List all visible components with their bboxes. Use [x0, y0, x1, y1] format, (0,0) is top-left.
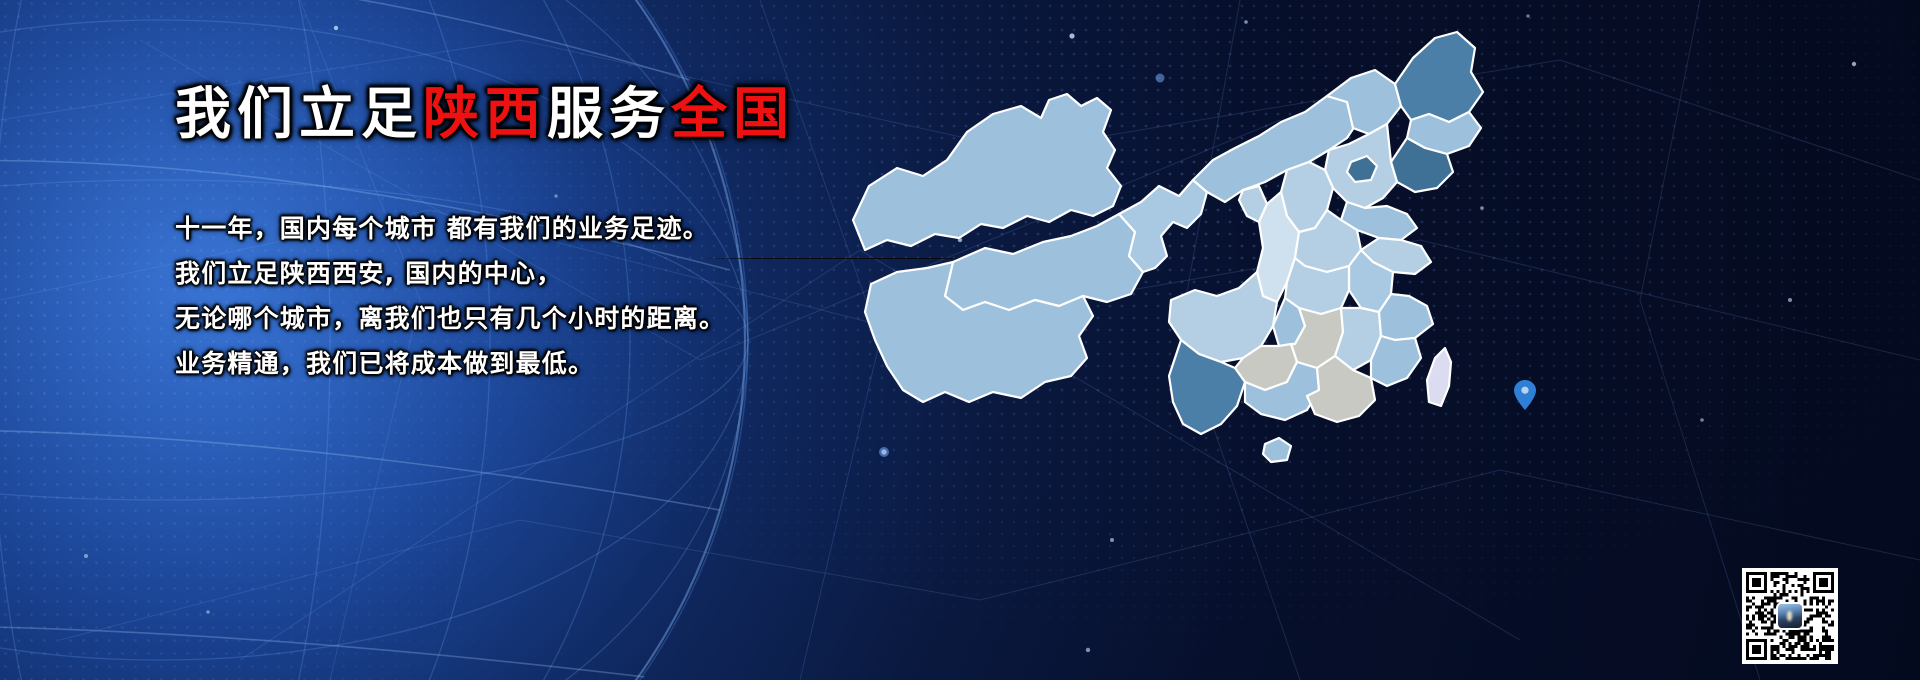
china-map [835, 10, 1515, 570]
body-copy: 十一年，国内每个城市 都有我们的业务足迹。 我们立足陕西西安, 国内的中心， 无… [175, 206, 875, 386]
headline-part-2: 陕西 [423, 82, 547, 147]
province-xinjiang[interactable] [853, 94, 1121, 250]
province-hainan[interactable] [1263, 438, 1291, 462]
copy-block: 我们立足陕西服务全国 十一年，国内每个城市 都有我们的业务足迹。 我们立足陕西西… [175, 82, 875, 386]
body-line: 我们立足陕西西安, 国内的中心， [175, 251, 875, 296]
headline-part-3: 服务 [547, 82, 671, 147]
body-line: 业务精通，我们已将成本做到最低。 [175, 341, 875, 386]
location-pin-icon[interactable] [1514, 380, 1536, 410]
province-gansu[interactable] [1119, 180, 1207, 272]
headline-part-4: 全国 [671, 82, 795, 147]
body-line: 无论哪个城市，离我们也只有几个小时的距离。 [175, 296, 875, 341]
qr-center-logo [1778, 604, 1802, 628]
page-headline: 我们立足陕西服务全国 [175, 82, 875, 148]
body-line: 十一年，国内每个城市 都有我们的业务足迹。 [175, 206, 875, 251]
province-heilongjiang[interactable] [1395, 32, 1483, 122]
province-zhejiang[interactable] [1379, 294, 1433, 340]
headline-part-1: 我们立足 [175, 82, 423, 147]
province-taiwan[interactable] [1427, 348, 1451, 406]
promo-banner: 我们立足陕西服务全国 十一年，国内每个城市 都有我们的业务足迹。 我们立足陕西西… [0, 0, 1920, 680]
province-fujian[interactable] [1371, 336, 1421, 386]
qr-code[interactable] [1742, 568, 1838, 664]
